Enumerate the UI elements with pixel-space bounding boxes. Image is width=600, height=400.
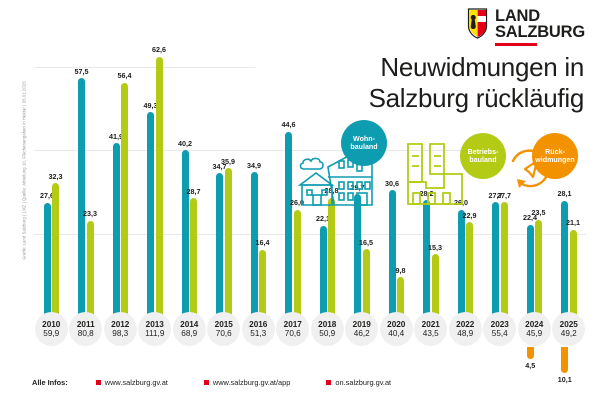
bar-value-label: 23,3: [83, 209, 97, 218]
year-pill-2012[interactable]: 201298,3: [104, 312, 137, 346]
bar-group: 49,362,6: [138, 57, 173, 318]
year-pill-year: 2016: [249, 320, 267, 329]
bar-group: 22,128,8: [310, 198, 345, 318]
bar-betriebsbauland-2014[interactable]: 28,7: [190, 198, 197, 318]
bar-group: 34,735,9: [207, 168, 242, 318]
bar-wohnbauland-2021[interactable]: 28,2: [423, 200, 430, 318]
bar-betriebsbauland-2012[interactable]: 56,4: [121, 83, 128, 318]
bar-value-label: 4,5: [525, 361, 535, 370]
bar-value-label: 56,4: [118, 71, 132, 80]
footer-label: Alle Infos:: [32, 378, 68, 387]
bar-wohnbauland-2015[interactable]: 34,7: [216, 173, 223, 318]
bar-betriebsbauland-2021[interactable]: 15,3: [432, 254, 439, 318]
bar-wohnbauland-2012[interactable]: 41,9: [113, 143, 120, 318]
footer-link-2[interactable]: www.salzburg.gv.at/app: [204, 378, 291, 387]
bar-betriebsbauland-2011[interactable]: 23,3: [87, 221, 94, 318]
year-pill-year: 2012: [111, 320, 129, 329]
logo-line-1: LAND: [495, 8, 585, 24]
bar-group: 27,632,3: [34, 183, 69, 318]
bar-betriebsbauland-2010[interactable]: 32,3: [52, 183, 59, 318]
bar-wohnbauland-2022[interactable]: 26,0: [458, 210, 465, 318]
year-pill-year: 2021: [422, 320, 440, 329]
year-pill-total: 55,4: [492, 329, 508, 338]
year-pill-2020[interactable]: 202040,4: [380, 312, 413, 346]
year-pill-2019[interactable]: 201946,2: [345, 312, 378, 346]
year-pill-year: 2017: [284, 320, 302, 329]
bar-betriebsbauland-2016[interactable]: 16,4: [259, 250, 266, 318]
legend-badge-wohnbauland[interactable]: Wohn- bauland: [341, 120, 387, 166]
year-pill-total: 48,9: [457, 329, 473, 338]
legend-badge-wohnbauland-line1: Wohn-: [353, 135, 375, 143]
bar-group: 40,228,7: [172, 150, 207, 318]
bar-value-label: 15,3: [428, 243, 442, 252]
year-pill-total: 45,9: [526, 329, 542, 338]
bar-value-label: 62,6: [152, 45, 166, 54]
bar-value-label: 28,1: [558, 189, 572, 198]
legend-badge-rueckwidmungen[interactable]: Rück- widmungen: [532, 133, 578, 179]
bar-wohnbauland-2017[interactable]: 44,6: [285, 132, 292, 318]
bar-wohnbauland-2014[interactable]: 40,2: [182, 150, 189, 318]
footer-link-3[interactable]: on.salzburg.gv.at: [326, 378, 391, 387]
bar-value-label: 44,6: [282, 120, 296, 129]
bar-value-label: 57,5: [75, 67, 89, 76]
year-pill-year: 2014: [180, 320, 198, 329]
bar-group: 28,215,3: [414, 200, 449, 318]
bar-rueckwidmungen-2024[interactable]: 4,5: [527, 347, 534, 359]
legend-badge-wohnbauland-line2: bauland: [350, 143, 377, 151]
factory-icon: [404, 138, 466, 206]
bar-value-label: 32,3: [49, 172, 63, 181]
footer-link-3-text: on.salzburg.gv.at: [335, 378, 391, 387]
bar-group: 41,956,4: [103, 83, 138, 318]
year-pill-total: 51,3: [250, 329, 266, 338]
bar-group: 30,69,8: [379, 190, 414, 318]
year-pill-year: 2020: [387, 320, 405, 329]
year-pill-total: 70,6: [216, 329, 232, 338]
year-pill-2021[interactable]: 202143,5: [414, 312, 447, 346]
year-pill-year: 2010: [42, 320, 60, 329]
bar-group: 57,523,3: [69, 78, 104, 318]
footer-link-1-text: www.salzburg.gv.at: [105, 378, 168, 387]
bar-value-label: 35,9: [221, 157, 235, 166]
year-pill-2023[interactable]: 202355,4: [483, 312, 516, 346]
rueckwidmungen-bars: 4,510,1: [34, 347, 586, 395]
year-pill-2015[interactable]: 201570,6: [207, 312, 240, 346]
infographic-root: Grafik: Land Salzburg | LMZ | Quelle: Ab…: [0, 0, 600, 400]
bar-betriebsbauland-2019[interactable]: 16,5: [363, 249, 370, 318]
bar-betriebsbauland-2018[interactable]: 28,8: [328, 198, 335, 318]
year-pill-2022[interactable]: 202248,9: [449, 312, 482, 346]
year-pill-total: 98,3: [112, 329, 128, 338]
bar-wohnbauland-2013[interactable]: 49,3: [147, 112, 154, 318]
source-credit: Grafik: Land Salzburg | LMZ | Quelle: Ab…: [22, 61, 27, 281]
year-pill-2018[interactable]: 201850,9: [311, 312, 344, 346]
bar-betriebsbauland-2022[interactable]: 22,9: [466, 222, 473, 318]
year-pill-year: 2024: [525, 320, 543, 329]
year-pill-year: 2013: [146, 320, 164, 329]
year-pill-2017[interactable]: 201770,6: [276, 312, 309, 346]
bullet-square-icon: [204, 380, 209, 385]
bullet-square-icon: [96, 380, 101, 385]
year-pill-2016[interactable]: 201651,3: [242, 312, 275, 346]
year-pill-year: 2025: [560, 320, 578, 329]
bar-betriebsbauland-2015[interactable]: 35,9: [225, 168, 232, 318]
year-pill-total: 70,6: [285, 329, 301, 338]
footer-link-2-text: www.salzburg.gv.at/app: [213, 378, 291, 387]
year-pill-total: 111,9: [145, 329, 164, 338]
bullet-square-icon: [326, 380, 331, 385]
year-pill-total: 43,5: [423, 329, 439, 338]
legend-badge-betriebsbauland-line2: bauland: [469, 156, 496, 164]
year-pill-year: 2023: [491, 320, 509, 329]
year-pill-total: 68,9: [181, 329, 197, 338]
bar-value-label: 21,1: [566, 218, 580, 227]
bar-wohnbauland-2018[interactable]: 22,1: [320, 226, 327, 318]
year-pill-year: 2022: [456, 320, 474, 329]
bar-wohnbauland-2023[interactable]: 27,7: [492, 202, 499, 318]
bar-value-label: 16,5: [359, 238, 373, 247]
bar-wohnbauland-2020[interactable]: 30,6: [389, 190, 396, 318]
bar-value-label: 28,7: [187, 187, 201, 196]
year-pill-year: 2018: [318, 320, 336, 329]
bar-value-label: 40,2: [178, 139, 192, 148]
bar-group: 28,121,1: [552, 201, 587, 318]
year-pill-2010[interactable]: 201059,9: [35, 312, 68, 346]
year-pill-total: 80,8: [78, 329, 94, 338]
year-pill-year: 2011: [77, 320, 95, 329]
bar-betriebsbauland-2013[interactable]: 62,6: [156, 57, 163, 318]
bar-group: 34,916,4: [241, 172, 276, 318]
year-pill-year: 2019: [353, 320, 371, 329]
year-pill-2014[interactable]: 201468,9: [173, 312, 206, 346]
year-total-pills: 201059,9201180,8201298,32013111,9201468,…: [34, 312, 586, 348]
bar-group: 22,423,5: [517, 220, 552, 318]
legend-badge-betriebsbauland[interactable]: Betriebs- bauland: [460, 133, 506, 179]
bar-wohnbauland-2024[interactable]: 22,4: [527, 225, 534, 318]
year-pill-total: 59,9: [43, 329, 59, 338]
bar-value-label: 30,6: [385, 179, 399, 188]
bar-betriebsbauland-2023[interactable]: 27,7: [501, 202, 508, 318]
year-pill-year: 2015: [215, 320, 233, 329]
bar-group: 29,716,5: [345, 194, 380, 318]
year-pill-2024[interactable]: 202445,9: [518, 312, 551, 346]
bar-wohnbauland-2011[interactable]: 57,5: [78, 78, 85, 318]
year-pill-total: 46,2: [354, 329, 370, 338]
bar-value-label: 22,9: [463, 211, 477, 220]
legend-badge-rueckwidmungen-line2: widmungen: [535, 156, 574, 164]
year-pill-2011[interactable]: 201180,8: [69, 312, 102, 346]
footer-links: Alle Infos: www.salzburg.gv.at www.salzb…: [0, 378, 600, 387]
year-pill-total: 49,2: [561, 329, 577, 338]
bar-group: 26,022,9: [448, 210, 483, 318]
bar-value-label: 23,5: [532, 208, 546, 217]
bar-value-label: 16,4: [256, 238, 270, 247]
year-pill-total: 40,4: [388, 329, 404, 338]
bar-value-label: 9,8: [396, 266, 406, 275]
bar-wohnbauland-2010[interactable]: 27,6: [44, 203, 51, 318]
bar-rueckwidmungen-2025[interactable]: 10,1: [561, 347, 568, 373]
bar-betriebsbauland-2017[interactable]: 26,0: [294, 210, 301, 318]
bar-betriebsbauland-2025[interactable]: 21,1: [570, 230, 577, 318]
year-pill-total: 50,9: [319, 329, 335, 338]
year-pill-2013[interactable]: 2013111,9: [138, 312, 171, 346]
bar-betriebsbauland-2024[interactable]: 23,5: [535, 220, 542, 318]
year-pill-2025[interactable]: 202549,2: [552, 312, 585, 346]
footer-link-1[interactable]: www.salzburg.gv.at: [96, 378, 168, 387]
bar-group: 27,727,7: [483, 202, 518, 318]
legend-badge-rueckwidmungen-line1: Rück-: [545, 148, 565, 156]
bar-wohnbauland-2019[interactable]: 29,7: [354, 194, 361, 318]
bar-value-label: 34,9: [247, 161, 261, 170]
legend-badge-betriebsbauland-line1: Betriebs-: [468, 148, 499, 156]
